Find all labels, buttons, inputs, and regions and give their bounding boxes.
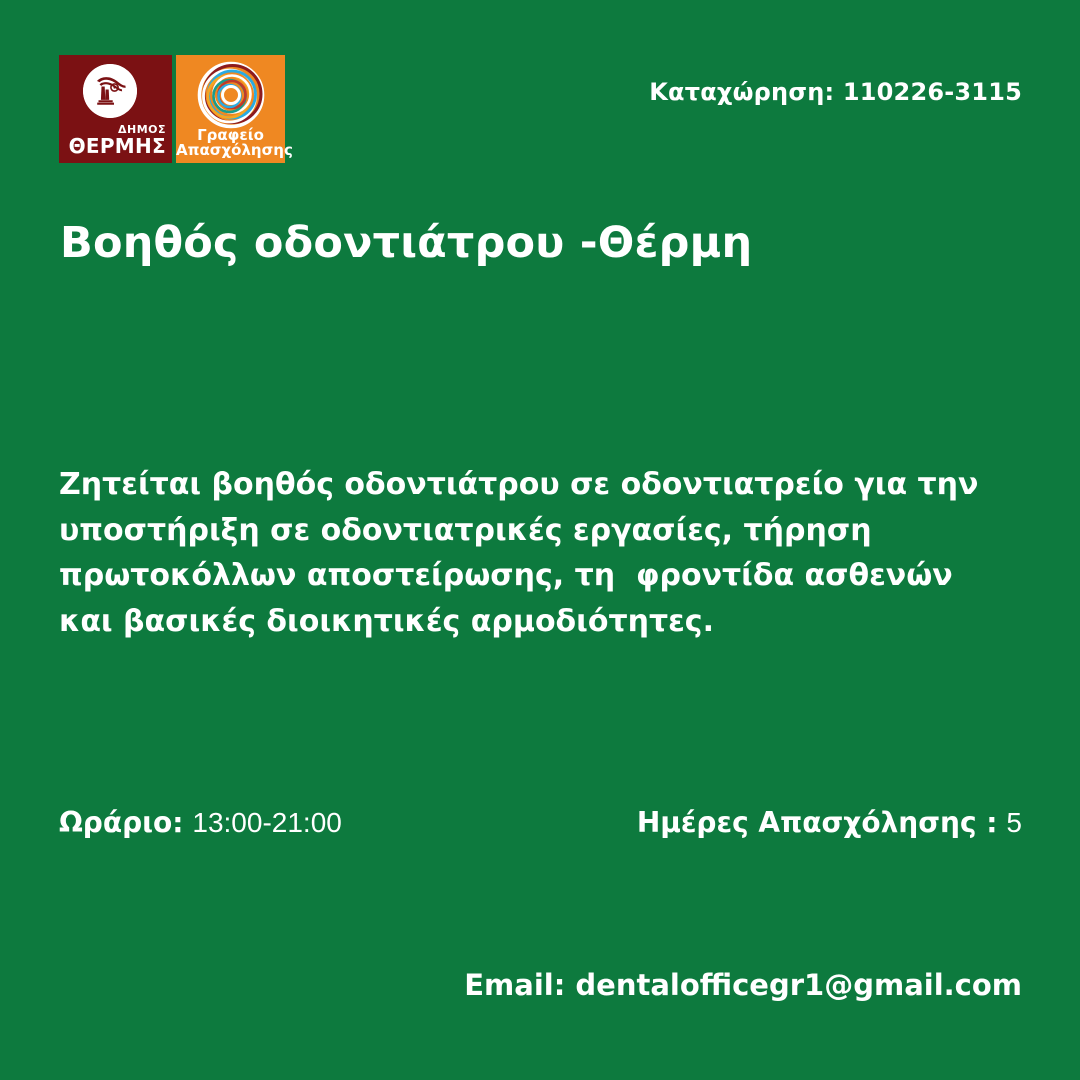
schedule-field: Ωράριο: 13:00-21:00 [59, 806, 342, 839]
employment-office-logo: Γραφείο Απασχόλησης [176, 55, 285, 163]
concentric-rings-logo-icon [196, 60, 266, 130]
logo-block: ΔΗΜΟΣ ΘΕΡΜΗΣ [59, 55, 285, 163]
registration-number: Καταχώρηση: 110226-3115 [649, 78, 1022, 106]
job-description: Ζητείται βοηθός οδοντιάτρου σε οδοντιατρ… [59, 462, 999, 644]
page-title: Βοηθός οδοντιάτρου -Θέρμη [60, 218, 752, 268]
schedule-value: 13:00-21:00 [192, 807, 341, 838]
employment-office-logo-line2: Απασχόλησης [176, 141, 293, 159]
employment-office-logo-text: Γραφείο Απασχόλησης [176, 128, 285, 159]
municipality-logo-text: ΔΗΜΟΣ ΘΕΡΜΗΣ [69, 124, 166, 156]
municipality-logo: ΔΗΜΟΣ ΘΕΡΜΗΣ [59, 55, 172, 163]
header: ΔΗΜΟΣ ΘΕΡΜΗΣ [0, 0, 1080, 200]
days-value: 5 [1006, 807, 1022, 838]
days-label: Ημέρες Απασχόλησης : [637, 806, 998, 839]
contact-email[interactable]: Email: dentalofficegr1@gmail.com [464, 968, 1022, 1002]
days-field: Ημέρες Απασχόλησης : 5 [637, 806, 1022, 839]
schedule-label: Ωράριο: [59, 806, 183, 839]
details-row: Ωράριο: 13:00-21:00 Ημέρες Απασχόλησης :… [59, 806, 1022, 850]
municipality-logo-line2: ΘΕΡΜΗΣ [69, 136, 166, 156]
dimos-thermis-emblem-icon [83, 64, 137, 118]
